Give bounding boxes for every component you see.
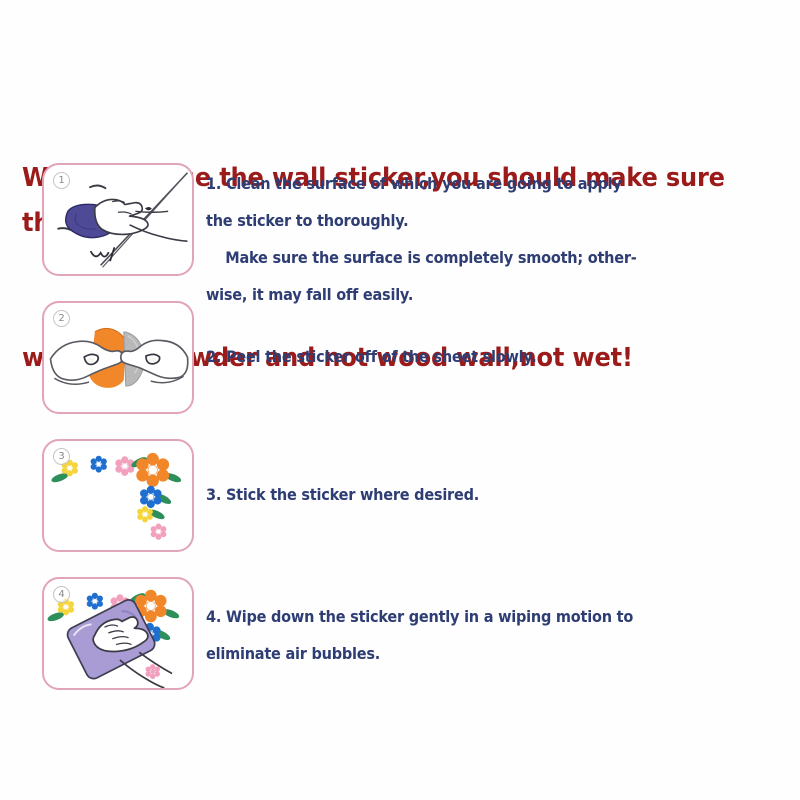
panel-clean-surface: 1 xyxy=(42,163,194,276)
step-badge-4: 4 xyxy=(53,586,70,603)
step-text-3: 3. Stick the sticker where desired. xyxy=(206,439,758,514)
step-text-4: 4. Wipe down the sticker gently in a wip… xyxy=(206,577,758,673)
panel-wipe-bubbles: 4 xyxy=(42,577,194,690)
step-badge-3: 3 xyxy=(53,448,70,465)
step-item-3: 3 3. Stick the sticker where desired. xyxy=(0,439,800,577)
panel-peel-sticker: 2 xyxy=(42,301,194,414)
instruction-steps-list: 1 1. Clean the surface of which you are … xyxy=(0,163,800,715)
step-text-2: 2. Peel the sticker off of the sheet slo… xyxy=(206,301,758,376)
step-item-4: 4 4. Wipe down the sticker gently in a w… xyxy=(0,577,800,715)
step-item-1: 1 1. Clean the surface of which you are … xyxy=(0,163,800,301)
step-badge-2: 2 xyxy=(53,310,70,327)
step-badge-1: 1 xyxy=(53,172,70,189)
step-item-2: 2 2. Peel the sticker off of the sheet s… xyxy=(0,301,800,439)
panel-stick-sticker: 3 xyxy=(42,439,194,552)
step-text-1: 1. Clean the surface of which you are go… xyxy=(206,163,758,314)
